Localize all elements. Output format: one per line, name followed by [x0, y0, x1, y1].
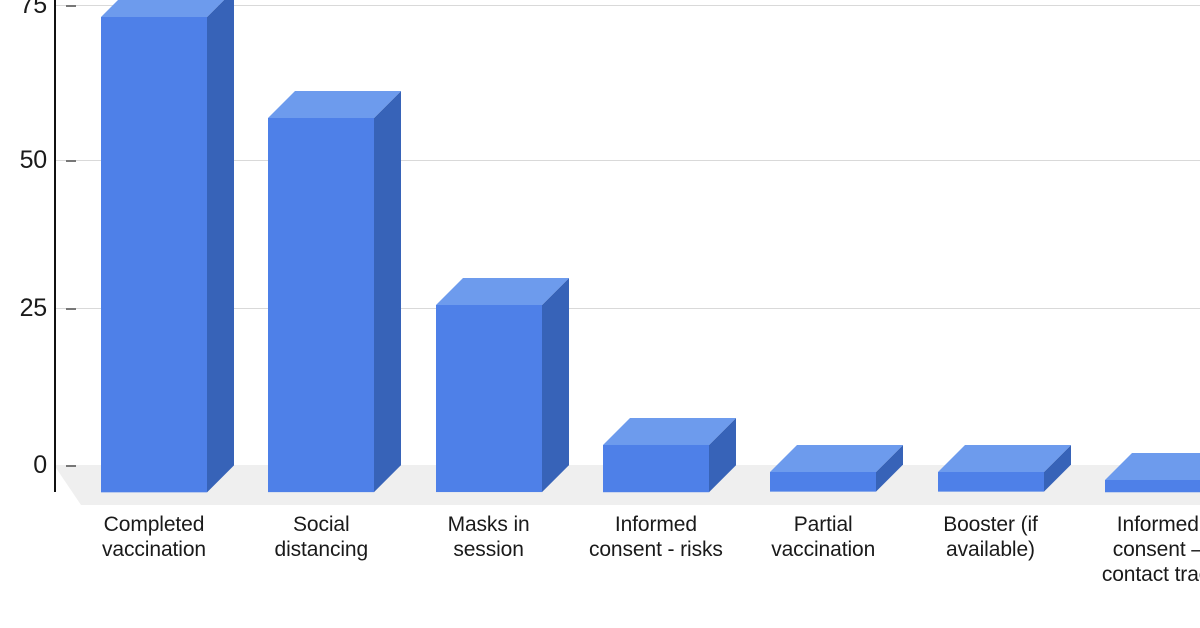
y-axis-line [54, 0, 56, 492]
y-axis-label-25: 25 [3, 294, 47, 322]
bar-column[interactable] [938, 445, 1073, 494]
bar-chart: 75 50 25 0 Completed vaccinationSocial d… [0, 0, 1200, 628]
category-label: Informed consent – contact traci [1048, 512, 1200, 587]
bar-column[interactable] [268, 91, 403, 494]
y-tick-0 [66, 465, 76, 467]
y-axis-label-50: 50 [3, 146, 47, 174]
bar-column[interactable] [436, 278, 571, 494]
bar-column[interactable] [1105, 453, 1200, 494]
bar-column[interactable] [603, 418, 738, 494]
bar-column[interactable] [101, 0, 236, 494]
y-axis-label-75: 75 [3, 0, 47, 19]
plot-area: 75 50 25 0 Completed vaccinationSocial d… [0, 0, 1200, 628]
bar-column[interactable] [770, 445, 905, 494]
y-tick-75 [66, 5, 76, 7]
y-tick-50 [66, 160, 76, 162]
y-axis-label-0: 0 [3, 451, 47, 479]
y-tick-25 [66, 308, 76, 310]
